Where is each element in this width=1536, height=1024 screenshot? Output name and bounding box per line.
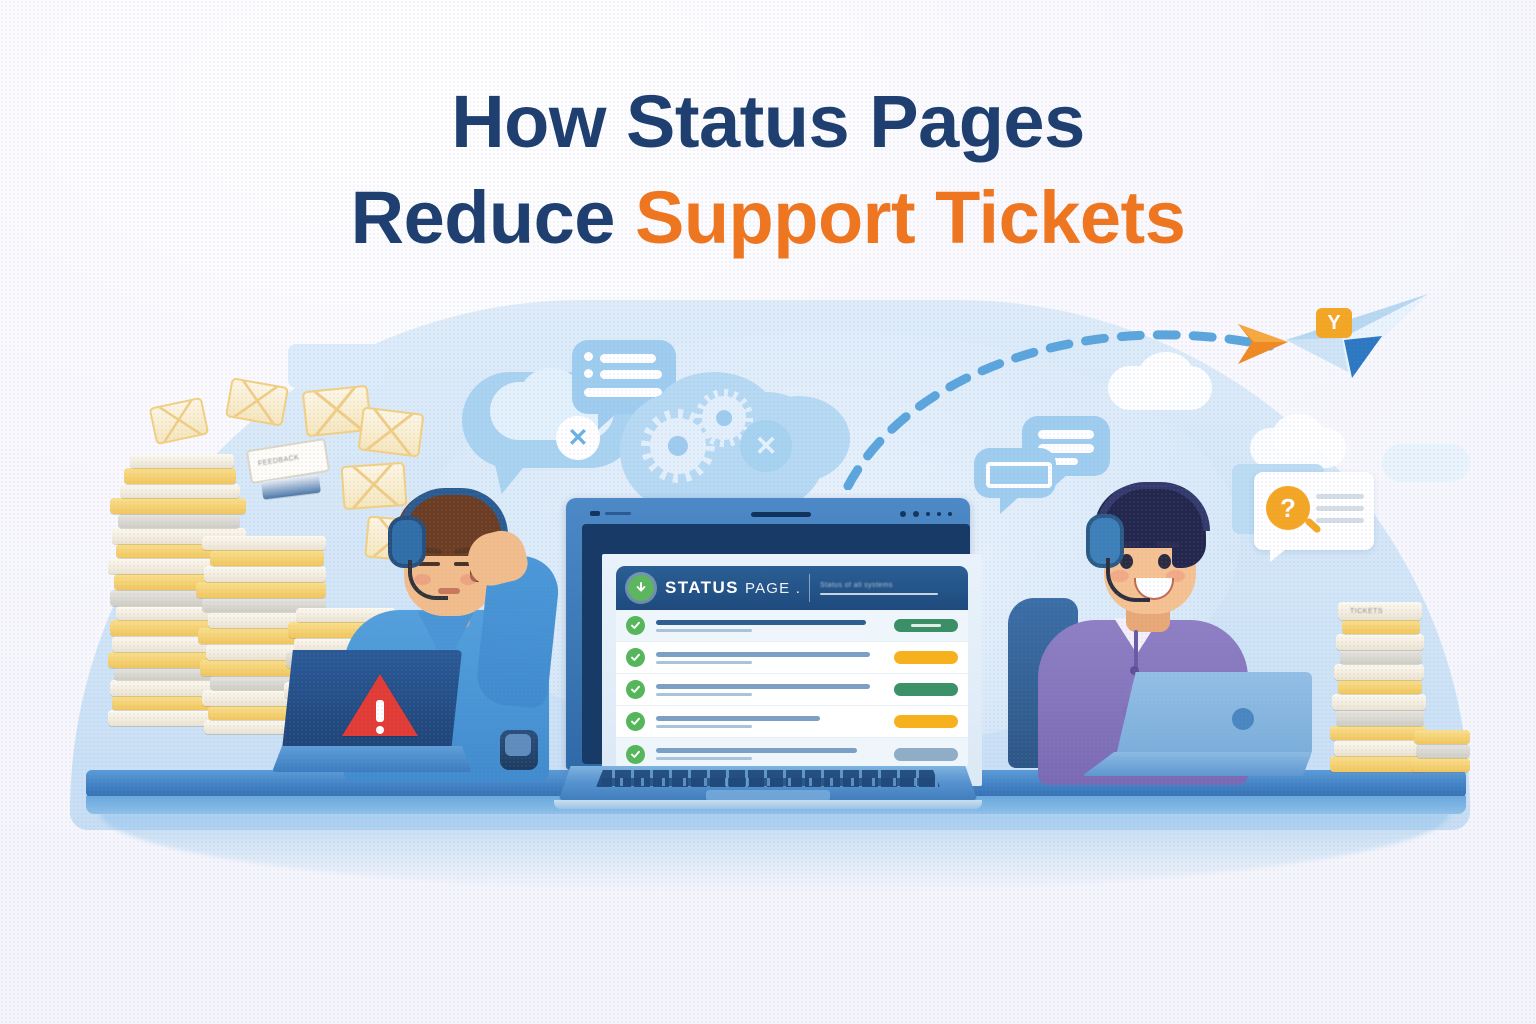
check-circle-icon — [626, 680, 645, 699]
webcam-slot-icon — [751, 512, 811, 517]
agent-laptop-screen — [1116, 672, 1312, 756]
status-page-screen: STATUS PAGE . Status of all systems — [602, 554, 982, 786]
status-badge — [894, 619, 958, 632]
alert-laptop — [272, 650, 472, 780]
lid-indicator-dots — [900, 511, 952, 517]
table-row[interactable] — [616, 706, 968, 738]
envelope-icon — [225, 377, 289, 426]
status-page-laptop: STATUS PAGE . Status of all systems — [558, 498, 978, 828]
title-line-2: Reduce Support Tickets — [0, 170, 1536, 266]
ticket-pile-right: TICKETS — [1330, 598, 1480, 778]
envelope-icon — [149, 397, 210, 445]
warning-exclamation-dot — [376, 726, 384, 734]
header-divider — [809, 574, 810, 602]
chat-bubble-line — [600, 354, 656, 363]
chat-bubble-dot — [584, 369, 593, 378]
status-page-title: STATUS PAGE . — [665, 578, 801, 598]
feedback-tag-label: FEEDBACK — [258, 454, 300, 467]
status-badge — [894, 748, 958, 761]
faq-text-line — [1316, 506, 1364, 511]
faq-text-line — [1316, 494, 1364, 499]
status-badge — [894, 683, 958, 696]
row-text-placeholder — [656, 684, 884, 696]
row-text-placeholder — [656, 620, 884, 632]
status-badge — [894, 651, 958, 664]
row-text-placeholder — [656, 716, 884, 728]
laptop-logo-icon — [1232, 708, 1254, 730]
title-line-1: How Status Pages — [0, 74, 1536, 170]
check-circle-icon — [626, 616, 645, 635]
status-rows-list — [616, 610, 968, 770]
send-badge-icon: Y — [1316, 308, 1352, 338]
envelope-icon — [358, 406, 425, 457]
faq-text-line — [1316, 518, 1364, 523]
chat-bubble-line — [600, 370, 662, 379]
alert-laptop-base — [272, 746, 472, 772]
check-circle-icon — [626, 648, 645, 667]
page-title: How Status Pages Reduce Support Tickets — [0, 74, 1536, 266]
paper-plane-icon: Y — [1282, 288, 1432, 380]
row-text-placeholder — [656, 748, 884, 760]
computer-mouse — [500, 730, 538, 770]
table-row[interactable] — [616, 674, 968, 706]
laptop-lid: STATUS PAGE . Status of all systems — [566, 498, 970, 770]
warning-exclamation-bar — [376, 700, 384, 722]
check-circle-icon — [626, 745, 645, 764]
status-page-meta-text: Status of all systems — [820, 582, 938, 589]
laptop-keyboard-row2[interactable] — [602, 778, 934, 786]
status-page-title-light: PAGE . — [745, 580, 801, 597]
status-badge — [894, 715, 958, 728]
table-row[interactable] — [616, 738, 968, 770]
gear-icon-small — [702, 396, 746, 440]
dashed-arc-arrow — [840, 290, 1320, 490]
lid-tag-marks — [590, 511, 631, 516]
title-line-2-highlight: Support Tickets — [635, 176, 1185, 259]
agent-laptop — [1082, 672, 1312, 782]
laptop-bezel: STATUS PAGE . Status of all systems — [582, 524, 970, 764]
error-x-icon-cloud: ✕ — [740, 420, 792, 472]
status-page-meta-underline — [820, 593, 938, 595]
table-row[interactable] — [616, 610, 968, 642]
ticket-stack-label: TICKETS — [1350, 608, 1383, 615]
table-row[interactable] — [616, 642, 968, 674]
alert-laptop-screen — [282, 650, 462, 750]
status-page-header: STATUS PAGE . Status of all systems — [616, 566, 968, 610]
illustration-canvas: ✕ ✕ Y ? — [0, 0, 1536, 1024]
cloud-icon-far-right — [1382, 444, 1470, 482]
chat-bubble-dot — [584, 352, 593, 361]
row-text-placeholder — [656, 652, 884, 664]
error-x-icon: ✕ — [556, 416, 600, 460]
chat-bubble-line — [584, 388, 662, 397]
download-circle-icon — [628, 575, 654, 601]
laptop-front-lip — [554, 800, 982, 809]
status-page-meta: Status of all systems — [820, 582, 938, 595]
status-page-title-strong: STATUS — [665, 578, 739, 597]
check-circle-icon — [626, 712, 645, 731]
title-line-2-prefix: Reduce — [351, 176, 635, 259]
agent-eye-right — [1158, 554, 1171, 569]
agent-laptop-base — [1082, 752, 1312, 776]
